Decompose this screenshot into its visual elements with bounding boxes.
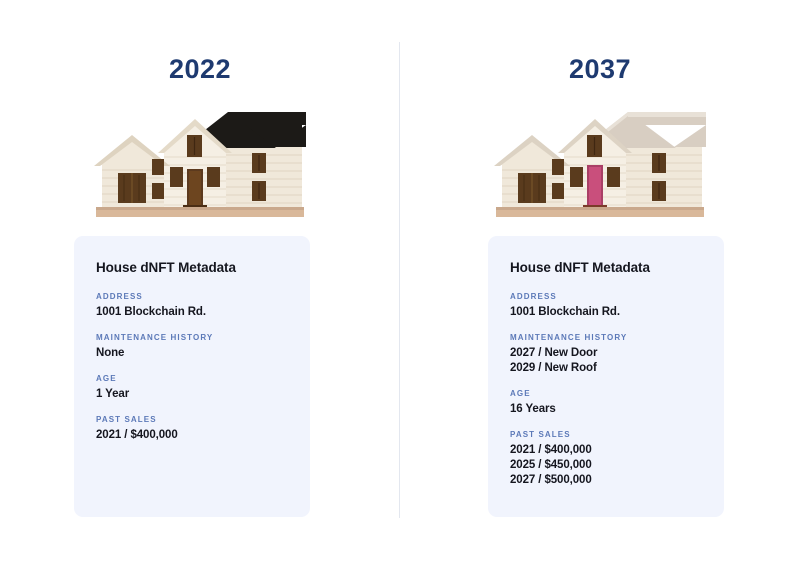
card-title: House dNFT Metadata bbox=[96, 260, 288, 275]
panel-2037: 2037 bbox=[400, 0, 800, 573]
field-maintenance-history: MAINTENANCE HISTORY None bbox=[96, 333, 288, 361]
value-line: 1001 Blockchain Rd. bbox=[96, 305, 288, 320]
card-title: House dNFT Metadata bbox=[510, 260, 702, 275]
value-line: 2025 / $450,000 bbox=[510, 458, 702, 473]
field-value: 2021 / $400,000 bbox=[96, 428, 288, 443]
comparison-canvas: 2022 bbox=[0, 0, 800, 573]
field-label: AGE bbox=[510, 389, 702, 398]
field-age: AGE 16 Years bbox=[510, 389, 702, 417]
year-heading: 2022 bbox=[0, 54, 400, 85]
field-maintenance-history: MAINTENANCE HISTORY 2027 / New Door 2029… bbox=[510, 333, 702, 376]
field-label: AGE bbox=[96, 374, 288, 383]
value-line: 2021 / $400,000 bbox=[96, 428, 288, 443]
value-line: 1 Year bbox=[96, 387, 288, 402]
field-past-sales: PAST SALES 2021 / $400,000 2025 / $450,0… bbox=[510, 430, 702, 488]
field-value: 1 Year bbox=[96, 387, 288, 402]
panel-2022: 2022 bbox=[0, 0, 400, 573]
field-age: AGE 1 Year bbox=[96, 374, 288, 402]
field-value: None bbox=[96, 346, 288, 361]
house-svg-2022 bbox=[88, 107, 312, 225]
year-heading: 2037 bbox=[400, 54, 800, 85]
field-value: 1001 Blockchain Rd. bbox=[96, 305, 288, 320]
value-line: 1001 Blockchain Rd. bbox=[510, 305, 702, 320]
value-line: 16 Years bbox=[510, 402, 702, 417]
value-line: 2029 / New Roof bbox=[510, 361, 702, 376]
field-address: ADDRESS 1001 Blockchain Rd. bbox=[96, 292, 288, 320]
house-illustration-updated bbox=[400, 100, 800, 225]
house-illustration-original bbox=[0, 100, 400, 225]
field-value: 2027 / New Door 2029 / New Roof bbox=[510, 346, 702, 376]
field-value: 2021 / $400,000 2025 / $450,000 2027 / $… bbox=[510, 443, 702, 488]
field-label: ADDRESS bbox=[96, 292, 288, 301]
field-label: PAST SALES bbox=[96, 415, 288, 424]
value-line: None bbox=[96, 346, 288, 361]
field-label: PAST SALES bbox=[510, 430, 702, 439]
metadata-card: House dNFT Metadata ADDRESS 1001 Blockch… bbox=[488, 236, 724, 517]
value-line: 2021 / $400,000 bbox=[510, 443, 702, 458]
metadata-card: House dNFT Metadata ADDRESS 1001 Blockch… bbox=[74, 236, 310, 517]
field-past-sales: PAST SALES 2021 / $400,000 bbox=[96, 415, 288, 443]
value-line: 2027 / $500,000 bbox=[510, 473, 702, 488]
field-value: 1001 Blockchain Rd. bbox=[510, 305, 702, 320]
field-label: MAINTENANCE HISTORY bbox=[510, 333, 702, 342]
field-value: 16 Years bbox=[510, 402, 702, 417]
value-line: 2027 / New Door bbox=[510, 346, 702, 361]
field-label: MAINTENANCE HISTORY bbox=[96, 333, 288, 342]
house-svg-2037 bbox=[488, 107, 712, 225]
field-address: ADDRESS 1001 Blockchain Rd. bbox=[510, 292, 702, 320]
field-label: ADDRESS bbox=[510, 292, 702, 301]
